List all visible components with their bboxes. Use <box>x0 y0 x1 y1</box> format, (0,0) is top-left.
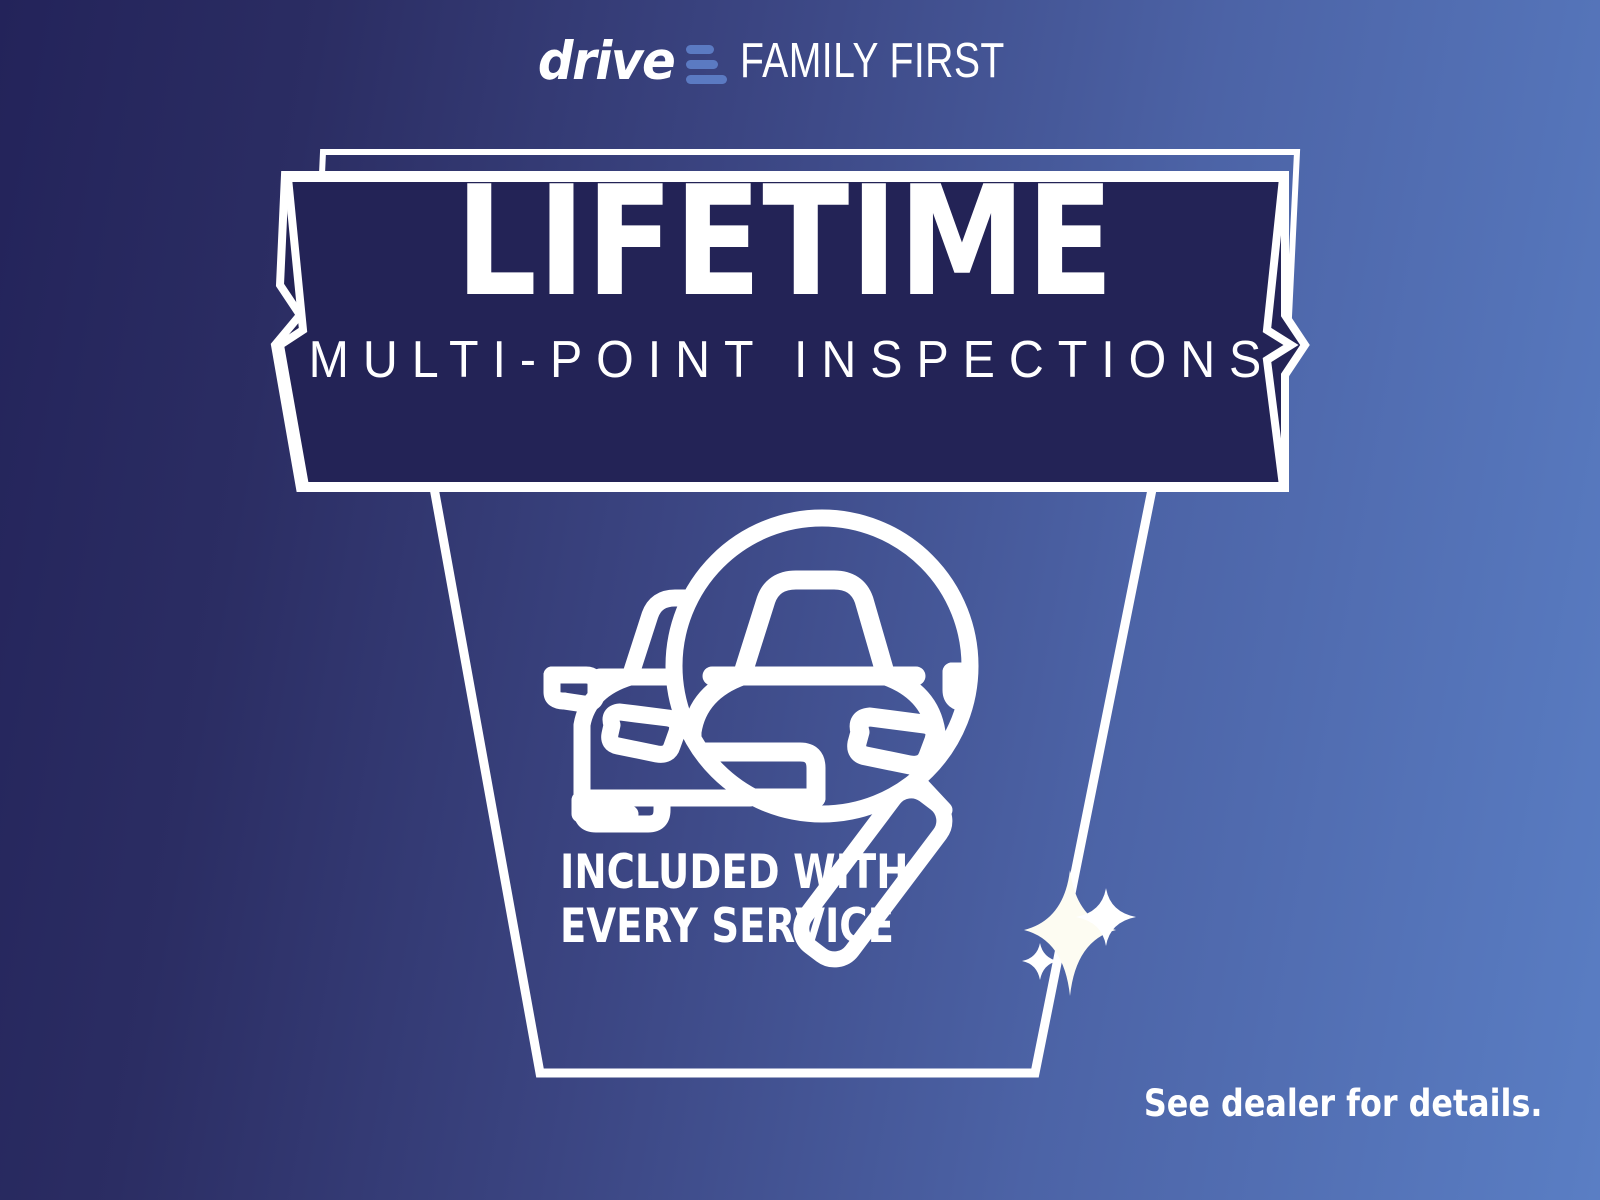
brand-bar-bottom <box>686 75 727 84</box>
three-bars-icon <box>686 45 727 84</box>
brand-tagline: FAMILY FIRST <box>740 37 1005 86</box>
included-text-block: INCLUDED WITH EVERY SERVICE <box>560 846 980 953</box>
banner-shapes <box>255 130 1315 510</box>
sparkle-small <box>1022 943 1058 980</box>
banner-ribbon: LIFETIME MULTI-POINT INSPECTIONS <box>255 130 1315 510</box>
brand-bar-top <box>686 45 714 54</box>
disclaimer-text: See dealer for details. <box>1143 1085 1542 1122</box>
promo-graphic: drive FAMILY FIRST LIFETIME MULTI-POINT … <box>0 0 1600 1200</box>
sparkle-stars-icon <box>990 850 1170 1010</box>
brand-wordmark: drive <box>538 35 676 88</box>
included-line-1: INCLUDED WITH <box>560 846 904 900</box>
brand-lockup: drive FAMILY FIRST <box>0 28 1600 94</box>
included-line-2: EVERY SERVICE <box>560 900 904 954</box>
brand-bar-middle <box>686 60 718 69</box>
banner-ribbon-shape <box>280 178 1291 486</box>
